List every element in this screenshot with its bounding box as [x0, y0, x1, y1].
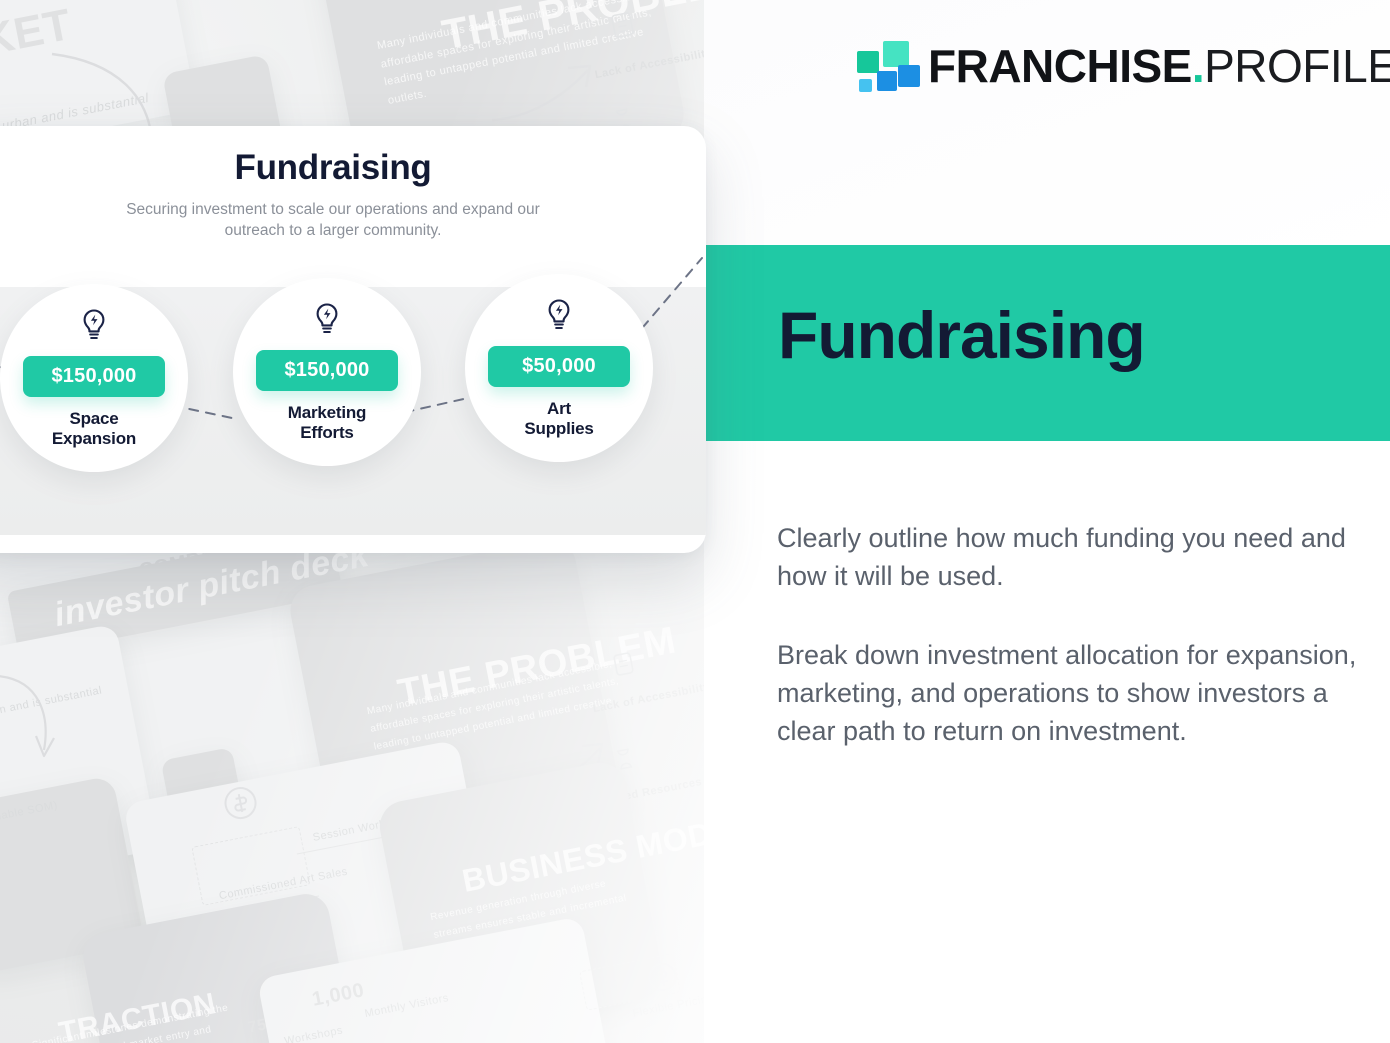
card-header: Fundraising Securing investment to scale… — [0, 126, 706, 241]
brand-wordmark: FRANCHISE.PROFILES — [928, 43, 1390, 89]
square-sky-small — [859, 79, 872, 92]
allocation-label-line1: Space — [69, 409, 118, 428]
allocation-amount: $150,000 — [23, 356, 165, 397]
brand-word-bold: FRANCHISE — [928, 40, 1192, 92]
allocation-label-line2: Supplies — [524, 419, 593, 438]
section-title: Fundraising — [778, 302, 1145, 368]
fundraising-slide-card: Fundraising Securing investment to scale… — [0, 126, 706, 553]
description-block: Clearly outline how much funding you nee… — [777, 519, 1357, 751]
lightbulb-bolt-icon — [544, 298, 574, 332]
allocation-label-line1: Art — [547, 399, 571, 418]
allocation-label: Space Expansion — [52, 409, 136, 450]
allocation-label-line1: Marketing — [288, 403, 367, 422]
allocation-node[interactable]: $150,000 Marketing Efforts — [233, 278, 421, 466]
allocation-node[interactable]: $50,000 Art Supplies — [465, 274, 653, 462]
description-paragraph-1: Clearly outline how much funding you nee… — [777, 519, 1357, 596]
square-blue — [877, 71, 897, 91]
brand-word-dot: . — [1192, 40, 1204, 92]
right-content-pane: FRANCHISE.PROFILES Fundraising Clearly o… — [704, 0, 1390, 1043]
allocation-label-line2: Efforts — [300, 423, 353, 442]
allocation-amount: $50,000 — [488, 346, 630, 387]
franchise-profiles-logo-mark — [852, 38, 908, 94]
allocation-label: Art Supplies — [524, 399, 593, 440]
square-blue-right — [898, 65, 920, 87]
allocation-amount: $150,000 — [256, 350, 398, 391]
brand-word-light: PROFILES — [1204, 40, 1390, 92]
slide-canvas: KET ces in urban and is substantial THE … — [0, 0, 1390, 1043]
square-teal — [857, 51, 879, 73]
lightbulb-bolt-icon — [312, 302, 342, 336]
allocation-label-line2: Expansion — [52, 429, 136, 448]
lightbulb-bolt-icon — [79, 308, 109, 342]
deck-text: 75 — [246, 1016, 268, 1037]
square-mint — [883, 41, 909, 67]
card-subtitle: Securing investment to scale our operati… — [98, 200, 568, 241]
allocation-node[interactable]: $150,000 Space Expansion — [0, 284, 188, 472]
allocation-label: Marketing Efforts — [288, 403, 367, 444]
curved-arrow-icon — [0, 672, 64, 762]
card-title: Fundraising — [0, 148, 706, 188]
brand-lockup: FRANCHISE.PROFILES — [852, 38, 1390, 94]
money-circle-icon — [221, 783, 262, 828]
description-paragraph-2: Break down investment allocation for exp… — [777, 636, 1357, 751]
curved-arrow-icon — [488, 60, 598, 130]
money-circle-icon — [645, 959, 681, 999]
